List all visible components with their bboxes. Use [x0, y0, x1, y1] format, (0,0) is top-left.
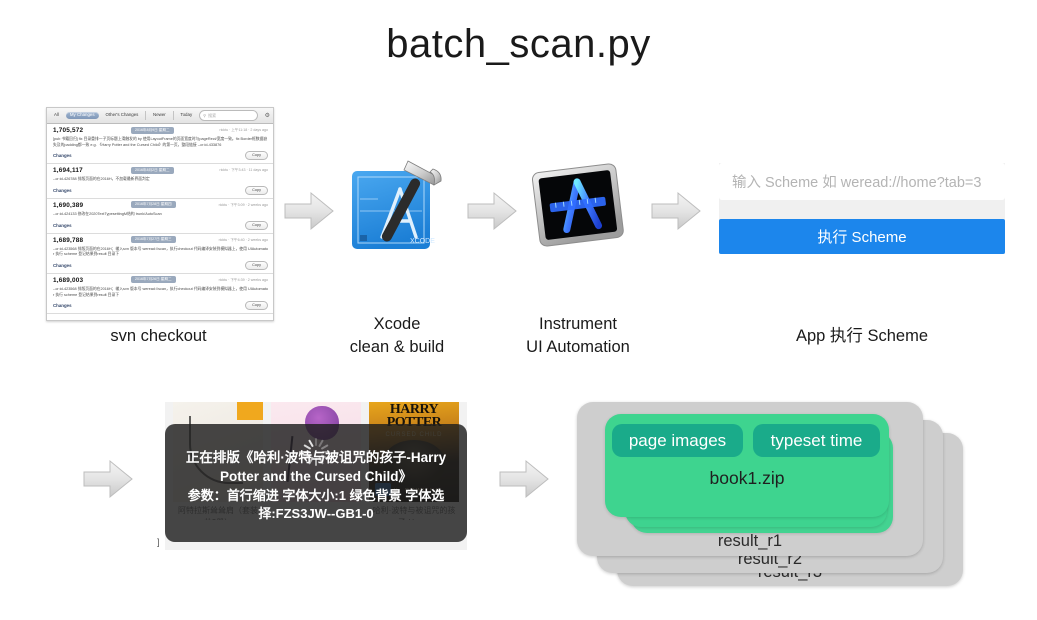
- caption-instrument-line1: Instrument: [503, 313, 653, 336]
- caption-app-scheme: App 执行 Scheme: [737, 325, 987, 348]
- svn-copy-button[interactable]: Copy: [245, 301, 268, 310]
- execute-scheme-button[interactable]: 执行 Scheme: [719, 219, 1005, 254]
- execute-scheme-label: 执行 Scheme: [817, 226, 906, 247]
- toolbar-divider: [173, 111, 174, 120]
- svn-commit-message: --cr:id-426788 排版页面的在2016H，不加载最新界面判定: [53, 177, 268, 183]
- pill-typeset-time-label: typeset time: [771, 431, 863, 451]
- instruments-app-icon: [528, 158, 628, 254]
- caption-xcode-line2: clean & build: [322, 336, 472, 359]
- svn-changes-toggle[interactable]: Changes: [53, 223, 72, 228]
- page-title: batch_scan.py: [0, 22, 1037, 67]
- search-placeholder: 搜索: [208, 113, 216, 119]
- svg-text:XCODE: XCODE: [410, 238, 435, 245]
- svn-tab-today[interactable]: Today: [176, 112, 196, 119]
- svn-tab-my-changes[interactable]: My Changes: [66, 112, 99, 119]
- svn-author-meta: ricktu · 上午11:18 · 2 days ago: [220, 128, 268, 133]
- svn-date-chip: 2016年7月27日 星期三: [131, 236, 176, 243]
- svn-row-footer: ChangesCopy: [53, 301, 268, 310]
- zip-card-front[interactable]: page images typeset time book1.zip: [605, 414, 889, 517]
- svn-changes-toggle[interactable]: Changes: [53, 188, 72, 193]
- svn-author-meta: ricktu · 下午3:09 · 2 weeks ago: [219, 203, 268, 208]
- caption-instrument-line2: UI Automation: [503, 336, 653, 359]
- zip-file-label: book1.zip: [605, 468, 889, 489]
- flow-arrow-3: [650, 190, 702, 232]
- svn-row-footer: ChangesCopy: [53, 221, 268, 230]
- flow-arrow-4: [82, 458, 134, 500]
- flow-arrow-1: [283, 190, 335, 232]
- svn-commit-message: --cr:id-423568 排版页面的在2016H；输入svn 版本号 wer…: [53, 247, 268, 258]
- scheme-input-placeholder: 输入 Scheme 如 weread://home?tab=3: [732, 171, 981, 192]
- svn-toolbar: All My Changes Other's Changes Newer Tod…: [47, 108, 273, 124]
- caption-svn-checkout: svn checkout: [56, 325, 261, 348]
- toolbar-divider: [145, 111, 146, 120]
- svn-date-chip: 2016年8月2日 星期二: [131, 167, 174, 174]
- svn-date-chip: 2016年7月26日 星期二: [131, 276, 176, 283]
- svn-commit-message: [pub 书籍回归] fix 目录重排一子页标题上滑触发的 by 使用Layou…: [53, 137, 268, 148]
- svn-revision-row[interactable]: 1,689,0032016年7月26日 星期二ricktu · 下午4:39 ·…: [47, 274, 273, 314]
- pill-page-images-label: page images: [629, 431, 726, 451]
- svn-tab-all[interactable]: All: [50, 112, 63, 119]
- caption-instrument: Instrument UI Automation: [503, 313, 653, 359]
- svn-revision-row[interactable]: 1,694,1172016年8月2日 星期二ricktu · 下午3:43 · …: [47, 164, 273, 199]
- svn-revision-row[interactable]: 1,705,5722016年8月9日 星期二ricktu · 上午11:18 ·…: [47, 124, 273, 164]
- result-label-r1: result_r1: [577, 532, 923, 551]
- svn-revision-list: 1,705,5722016年8月9日 星期二ricktu · 上午11:18 ·…: [47, 124, 273, 314]
- svn-changes-toggle[interactable]: Changes: [53, 263, 72, 268]
- svn-changes-toggle[interactable]: Changes: [53, 153, 72, 158]
- svn-revision-row[interactable]: 1,689,7882016年7月27日 星期三ricktu · 下午6:40 ·…: [47, 234, 273, 274]
- svn-search-input[interactable]: ⚲ 搜索: [199, 110, 257, 121]
- result-archive-stack: result_r3 result_r2 page images typeset …: [577, 398, 973, 588]
- svn-commit-message: --cr:id-424133 修改在2020TextTypesettingM结构…: [53, 212, 268, 218]
- svn-changes-toggle[interactable]: Changes: [53, 303, 72, 308]
- pill-typeset-time[interactable]: typeset time: [753, 424, 880, 457]
- caption-xcode: Xcode clean & build: [322, 313, 472, 359]
- svn-copy-button[interactable]: Copy: [245, 221, 268, 230]
- svn-checkout-screenshot: All My Changes Other's Changes Newer Tod…: [46, 107, 274, 321]
- svn-commit-message: --cr:id-423568 排版页面的在2016H；输入svn 版本号 wer…: [53, 287, 268, 298]
- typeset-parameters: 参数：首行缩进 字体大小:1 绿色背景 字体选择:FZS3JW--GB1-0: [174, 487, 459, 523]
- svn-date-chip: 2016年8月9日 星期二: [131, 127, 174, 134]
- typeset-status-overlay: 正在排版《哈利·波特与被诅咒的孩子-Harry Potter and the C…: [165, 424, 467, 542]
- xcode-app-icon: XCODE: [338, 155, 456, 255]
- svn-copy-button[interactable]: Copy: [245, 261, 268, 270]
- svn-author-meta: ricktu · 下午3:43 · 11 days ago: [220, 168, 268, 173]
- svn-author-meta: ricktu · 下午4:39 · 2 weeks ago: [219, 278, 268, 283]
- svn-copy-button[interactable]: Copy: [245, 151, 268, 160]
- spinner-blade: [315, 438, 317, 446]
- typeset-progress-screenshot: 阿特拉斯耸耸肩（套装共2册） HARRY POTTER CURSED CHILD…: [165, 402, 467, 550]
- flow-arrow-5: [498, 458, 550, 500]
- search-icon: ⚲: [203, 113, 206, 118]
- svn-date-chip: 2016年7月28日 星期四: [131, 201, 176, 208]
- svn-row-footer: ChangesCopy: [53, 186, 268, 195]
- scheme-input[interactable]: 输入 Scheme 如 weread://home?tab=3: [719, 163, 1005, 200]
- caption-xcode-line1: Xcode: [322, 313, 472, 336]
- svn-row-footer: ChangesCopy: [53, 261, 268, 270]
- app-scheme-panel: 输入 Scheme 如 weread://home?tab=3 执行 Schem…: [719, 163, 1005, 254]
- svn-row-footer: ChangesCopy: [53, 151, 268, 160]
- flow-arrow-2: [466, 190, 518, 232]
- svn-copy-button[interactable]: Copy: [245, 186, 268, 195]
- svn-revision-row[interactable]: 1,690,3892016年7月28日 星期四ricktu · 下午3:09 ·…: [47, 199, 273, 234]
- typeset-status-title: 正在排版《哈利·波特与被诅咒的孩子-Harry Potter and the C…: [174, 449, 459, 487]
- stray-bracket-mark: ]: [157, 537, 160, 547]
- diagram-canvas: batch_scan.py All My Changes Other's Cha…: [0, 0, 1037, 620]
- svn-tab-newer[interactable]: Newer: [149, 112, 170, 119]
- gear-icon[interactable]: ⚙: [265, 112, 270, 119]
- svn-author-meta: ricktu · 下午6:40 · 2 weeks ago: [219, 238, 268, 243]
- pill-page-images[interactable]: page images: [612, 424, 743, 457]
- svn-tab-others-changes[interactable]: Other's Changes: [102, 112, 143, 119]
